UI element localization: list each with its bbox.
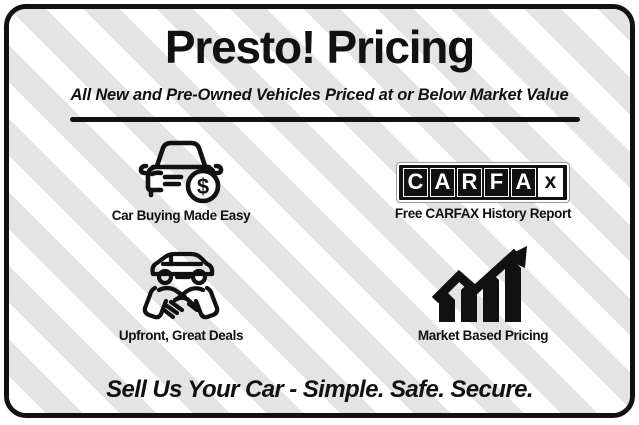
growth-bar-chart-arrow-icon <box>359 242 607 324</box>
header-divider <box>70 117 580 122</box>
feature-caption: Market Based Pricing <box>359 328 607 344</box>
feature-car-buying: $ Car Buying Made Easy <box>67 136 295 224</box>
banner-subtitle: All New and Pre-Owned Vehicles Priced at… <box>9 85 630 105</box>
banner-content: Presto! Pricing All New and Pre-Owned Ve… <box>9 9 630 413</box>
feature-caption: Free CARFAX History Report <box>359 206 607 222</box>
banner-title: Presto! Pricing <box>9 21 630 73</box>
feature-upfront-deals: Upfront, Great Deals <box>67 242 295 344</box>
banner-card: Presto! Pricing All New and Pre-Owned Ve… <box>4 4 635 418</box>
banner-tagline: Sell Us Your Car - Simple. Safe. Secure. <box>9 375 630 405</box>
carfax-letter-r: R <box>457 168 482 197</box>
carfax-letter-row: C A R F A x <box>403 168 563 197</box>
feature-caption: Car Buying Made Easy <box>67 208 295 224</box>
carfax-logo-icon: C A R F A x <box>397 163 569 202</box>
feature-carfax-report: C A R F A x Free CARFAX History Report <box>359 140 607 222</box>
carfax-letter-a2: A <box>511 168 536 197</box>
carfax-letter-c: C <box>403 168 428 197</box>
feature-market-pricing: Market Based Pricing <box>359 242 607 344</box>
carfax-letter-x: x <box>538 168 563 197</box>
feature-caption: Upfront, Great Deals <box>67 328 295 344</box>
carfax-letter-a1: A <box>430 168 455 197</box>
svg-text:$: $ <box>197 174 209 199</box>
carfax-letter-f: F <box>484 168 509 197</box>
feature-grid: $ Car Buying Made Easy C A R F <box>9 134 630 364</box>
car-with-dollar-coin-icon: $ <box>67 136 295 204</box>
presto-pricing-banner: Presto! Pricing All New and Pre-Owned Ve… <box>0 0 639 425</box>
car-handshake-icon <box>67 242 295 324</box>
